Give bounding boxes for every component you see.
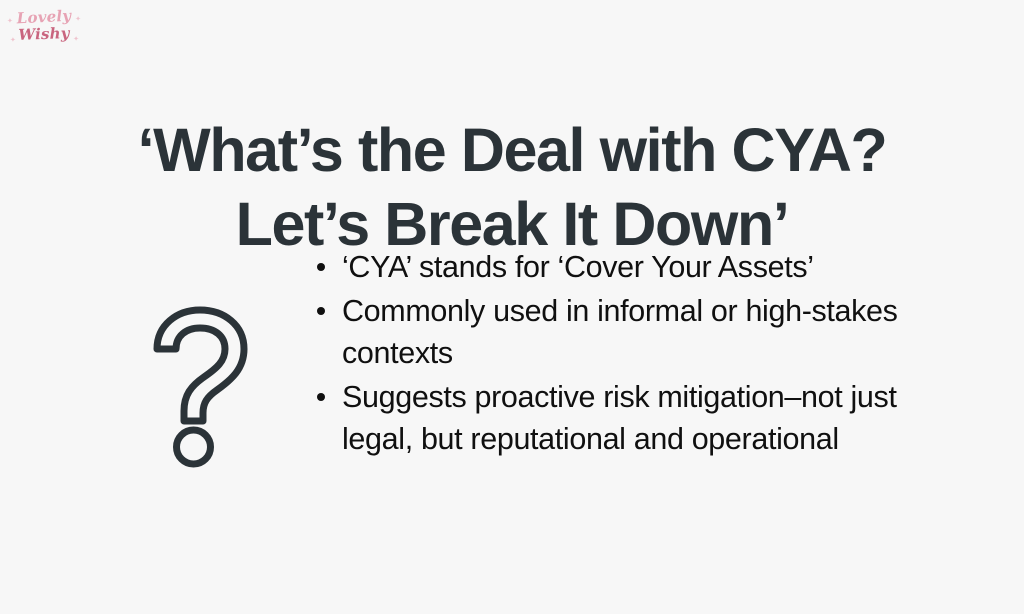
list-item-text: Suggests proactive risk mitigation–not j… bbox=[342, 376, 970, 460]
bullet-list: ‘CYA’ stands for ‘Cover Your Assets’ Com… bbox=[310, 246, 970, 462]
sparkle-icon: ✦ bbox=[10, 37, 16, 44]
bullet-dot-icon bbox=[317, 307, 325, 315]
brand-logo-line-2: Wishy bbox=[6, 26, 82, 44]
slide-canvas: ✦ ✦ Lovely Wishy ✦ ✦ ‘What’s the Deal wi… bbox=[0, 0, 1024, 614]
list-item-text: Commonly used in informal or high-stakes… bbox=[342, 290, 970, 374]
page-title: ‘What’s the Deal with CYA? Let’s Break I… bbox=[0, 113, 1024, 261]
list-item: ‘CYA’ stands for ‘Cover Your Assets’ bbox=[310, 246, 970, 288]
list-item: Commonly used in informal or high-stakes… bbox=[310, 290, 970, 374]
page-title-line-1: ‘What’s the Deal with CYA? bbox=[0, 113, 1024, 187]
bullet-dot-icon bbox=[317, 263, 325, 271]
bullet-dot-icon bbox=[317, 393, 325, 401]
list-item: Suggests proactive risk mitigation–not j… bbox=[310, 376, 970, 460]
sparkle-icon: ✦ bbox=[73, 36, 79, 43]
question-mark-icon bbox=[145, 303, 257, 468]
list-item-text: ‘CYA’ stands for ‘Cover Your Assets’ bbox=[342, 246, 970, 288]
brand-logo: ✦ ✦ Lovely Wishy ✦ ✦ bbox=[6, 4, 82, 52]
